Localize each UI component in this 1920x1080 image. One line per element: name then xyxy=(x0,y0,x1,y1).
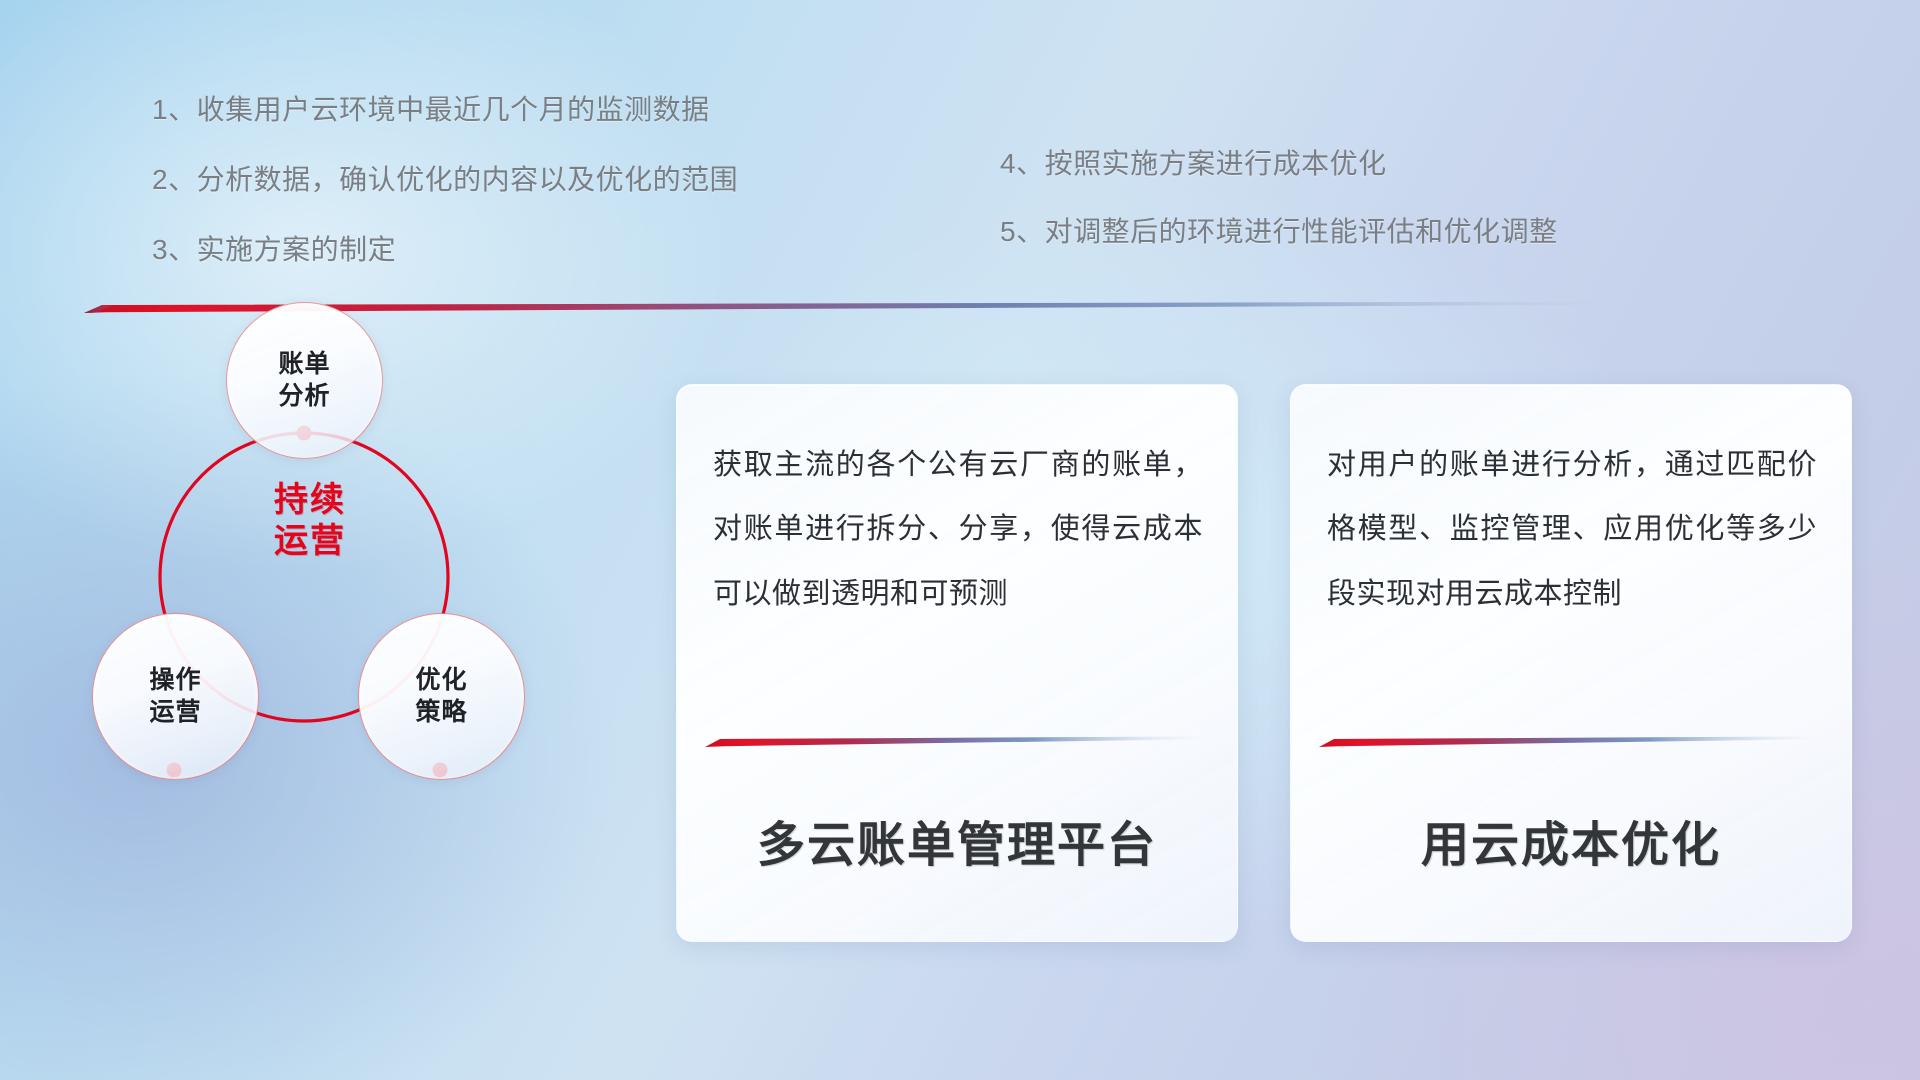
notes-region: 1、收集用户云环境中最近几个月的监测数据 2、分析数据，确认优化的内容以及优化的… xyxy=(0,0,1920,300)
card-2-divider-rule xyxy=(1319,735,1819,748)
continuous-operations-diagram: 账单 分析 操作 运营 优化 策略 持续 运营 xyxy=(70,280,630,980)
card-1-body: 获取主流的各个公有云厂商的账单，对账单进行拆分、分享，使得云成本可以做到透明和可… xyxy=(713,433,1203,626)
bubble-right-line1: 优化 xyxy=(415,665,467,696)
bubble-operations[interactable]: 操作 运营 xyxy=(92,613,259,780)
bubble-optimization-strategy[interactable]: 优化 策略 xyxy=(358,613,525,780)
center-label-line1: 持续 xyxy=(220,480,400,521)
note-item-2: 2、分析数据，确认优化的内容以及优化的范围 xyxy=(152,166,738,194)
diagram-center-label: 持续 运营 xyxy=(220,480,400,563)
bubble-left-line1: 操作 xyxy=(149,665,201,696)
note-item-3: 3、实施方案的制定 xyxy=(152,236,738,264)
card-2-body: 对用户的账单进行分析，通过匹配价格模型、监控管理、应用优化等多少段实现对用云成本… xyxy=(1327,433,1817,626)
card-1-divider-rule xyxy=(705,735,1205,748)
card-multicloud-billing-platform[interactable]: 获取主流的各个公有云厂商的账单，对账单进行拆分、分享，使得云成本可以做到透明和可… xyxy=(676,384,1238,942)
center-label-line2: 运营 xyxy=(220,521,400,562)
bubble-right-line2: 策略 xyxy=(415,697,467,728)
card-cloud-cost-optimization[interactable]: 对用户的账单进行分析，通过匹配价格模型、监控管理、应用优化等多少段实现对用云成本… xyxy=(1290,384,1852,942)
note-item-1: 1、收集用户云环境中最近几个月的监测数据 xyxy=(152,96,738,124)
notes-column-left: 1、收集用户云环境中最近几个月的监测数据 2、分析数据，确认优化的内容以及优化的… xyxy=(152,96,738,306)
note-item-4: 4、按照实施方案进行成本优化 xyxy=(1000,150,1558,178)
slide-canvas: 1、收集用户云环境中最近几个月的监测数据 2、分析数据，确认优化的内容以及优化的… xyxy=(0,0,1920,1080)
card-1-title: 多云账单管理平台 xyxy=(677,805,1237,875)
note-item-5: 5、对调整后的环境进行性能评估和优化调整 xyxy=(1000,218,1558,246)
bubble-top-line1: 账单 xyxy=(278,349,330,380)
bubble-left-line2: 运营 xyxy=(149,697,201,728)
card-2-title: 用云成本优化 xyxy=(1291,805,1851,875)
bubble-top-line2: 分析 xyxy=(278,381,330,412)
bubble-bill-analysis[interactable]: 账单 分析 xyxy=(226,302,383,459)
notes-column-right: 4、按照实施方案进行成本优化 5、对调整后的环境进行性能评估和优化调整 xyxy=(1000,150,1558,286)
